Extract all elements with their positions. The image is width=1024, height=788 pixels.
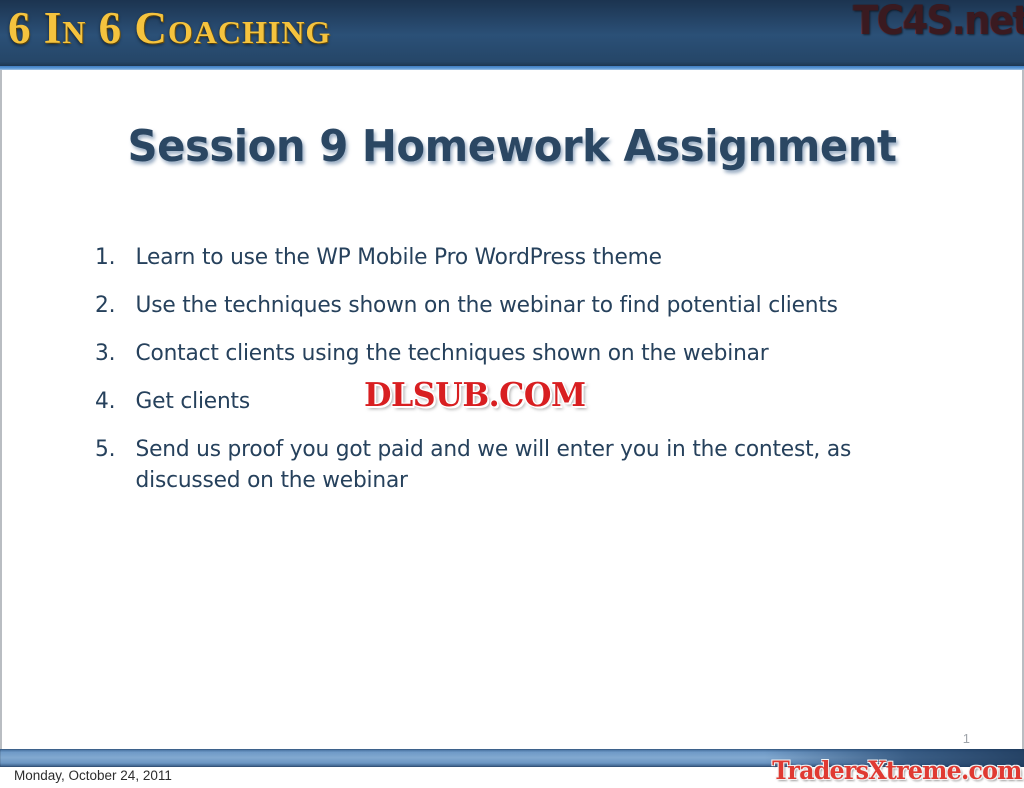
tc4s-site-logo: TC4S.net (852, 0, 1024, 42)
list-item-number: 3. (95, 338, 126, 369)
list-item-label: Send us proof you got paid and we will e… (136, 436, 852, 493)
list-item-number: 2. (95, 290, 126, 321)
list-item-label: Get clients (136, 388, 250, 414)
list-item-number: 4. (95, 386, 126, 417)
list-item-number: 1. (95, 242, 126, 273)
list-item: 1. Learn to use the WP Mobile Pro WordPr… (95, 242, 944, 273)
list-item: 2. Use the techniques shown on the webin… (95, 290, 944, 321)
list-item-label: Learn to use the WP Mobile Pro WordPress… (136, 244, 662, 270)
list-item-number: 5. (95, 434, 126, 465)
list-item-label: Contact clients using the techniques sho… (136, 340, 769, 366)
brand-title: 6 In 6 Coaching (8, 6, 331, 51)
dlsub-watermark: DLSUB.COM (364, 375, 586, 414)
tradersxtreme-logo: TradersXtreme.com (773, 756, 1022, 785)
list-item: 5. Send us proof you got paid and we wil… (95, 434, 944, 496)
presentation-slide: 6 In 6 Coaching TC4S.net Session 9 Homew… (0, 0, 1024, 788)
slide-header-banner: 6 In 6 Coaching TC4S.net (0, 0, 1024, 70)
page-title: Session 9 Homework Assignment (28, 121, 997, 172)
list-item: 3. Contact clients using the techniques … (95, 338, 944, 369)
slide-page-number: 1 (963, 731, 970, 746)
list-item-label: Use the techniques shown on the webinar … (136, 292, 838, 318)
slide-date: Monday, October 24, 2011 (14, 768, 172, 783)
